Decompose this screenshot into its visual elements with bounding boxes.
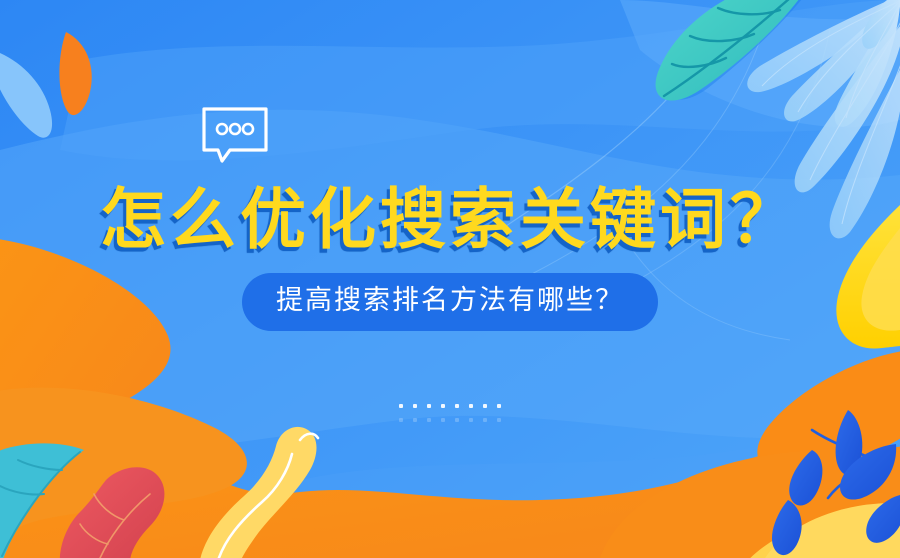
banner-root: 怎么优化搜索关键词？ 提高搜索排名方法有哪些？ — [0, 0, 900, 558]
background-artwork — [0, 0, 900, 558]
